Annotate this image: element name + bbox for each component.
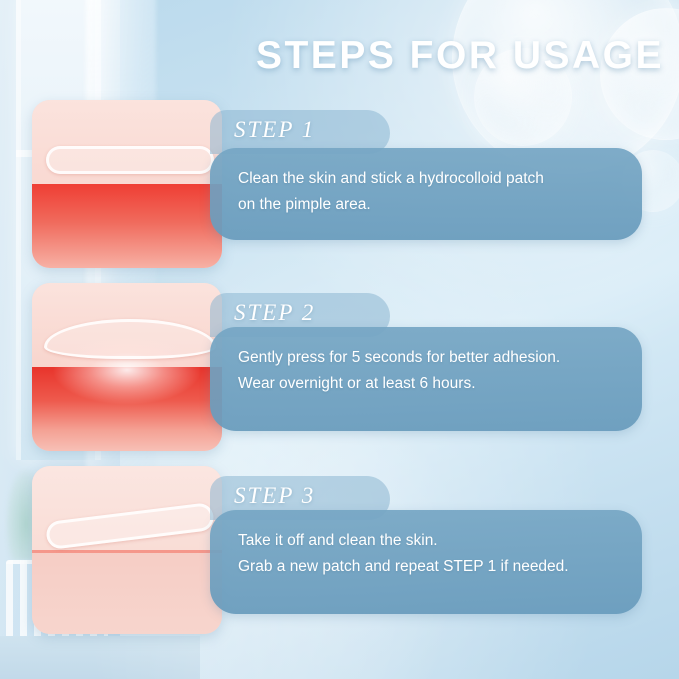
step-row-2: Gently press for 5 seconds for better ad… bbox=[0, 283, 679, 455]
step-2-line-2: Wear overnight or at least 6 hours. bbox=[238, 371, 626, 397]
step-1-illustration bbox=[32, 100, 222, 268]
step-3-line-2: Grab a new patch and repeat STEP 1 if ne… bbox=[238, 554, 626, 580]
step-1-body: Clean the skin and stick a hydrocolloid … bbox=[238, 166, 626, 218]
step-1-line-1: Clean the skin and stick a hydrocolloid … bbox=[238, 166, 626, 192]
step-2-illustration bbox=[32, 283, 222, 451]
skin-divider-line bbox=[32, 550, 222, 553]
skin-inflamed-area bbox=[32, 184, 222, 268]
background-floor bbox=[0, 636, 200, 679]
step-row-3: Take it off and clean the skin. Grab a n… bbox=[0, 466, 679, 638]
step-3-body: Take it off and clean the skin. Grab a n… bbox=[238, 528, 626, 580]
step-2-text-bubble: Gently press for 5 seconds for better ad… bbox=[210, 327, 642, 431]
step-1-label: STEP 1 bbox=[234, 117, 315, 143]
skin-healed-area bbox=[32, 550, 222, 634]
page-title: STEPS FOR USAGE bbox=[250, 34, 670, 78]
step-1-line-2: on the pimple area. bbox=[238, 192, 626, 218]
step-2-line-1: Gently press for 5 seconds for better ad… bbox=[238, 345, 626, 371]
step-3-text-bubble: Take it off and clean the skin. Grab a n… bbox=[210, 510, 642, 614]
infographic-canvas: STEPS FOR USAGE Clean the skin and stick… bbox=[0, 0, 679, 679]
step-3-illustration bbox=[32, 466, 222, 634]
step-2-body: Gently press for 5 seconds for better ad… bbox=[238, 345, 626, 397]
step-row-1: Clean the skin and stick a hydrocolloid … bbox=[0, 100, 679, 272]
step-3-label: STEP 3 bbox=[234, 483, 315, 509]
hydrocolloid-patch-shape bbox=[46, 146, 214, 174]
step-1-text-bubble: Clean the skin and stick a hydrocolloid … bbox=[210, 148, 642, 240]
step-3-line-1: Take it off and clean the skin. bbox=[238, 528, 626, 554]
step-2-label: STEP 2 bbox=[234, 300, 315, 326]
